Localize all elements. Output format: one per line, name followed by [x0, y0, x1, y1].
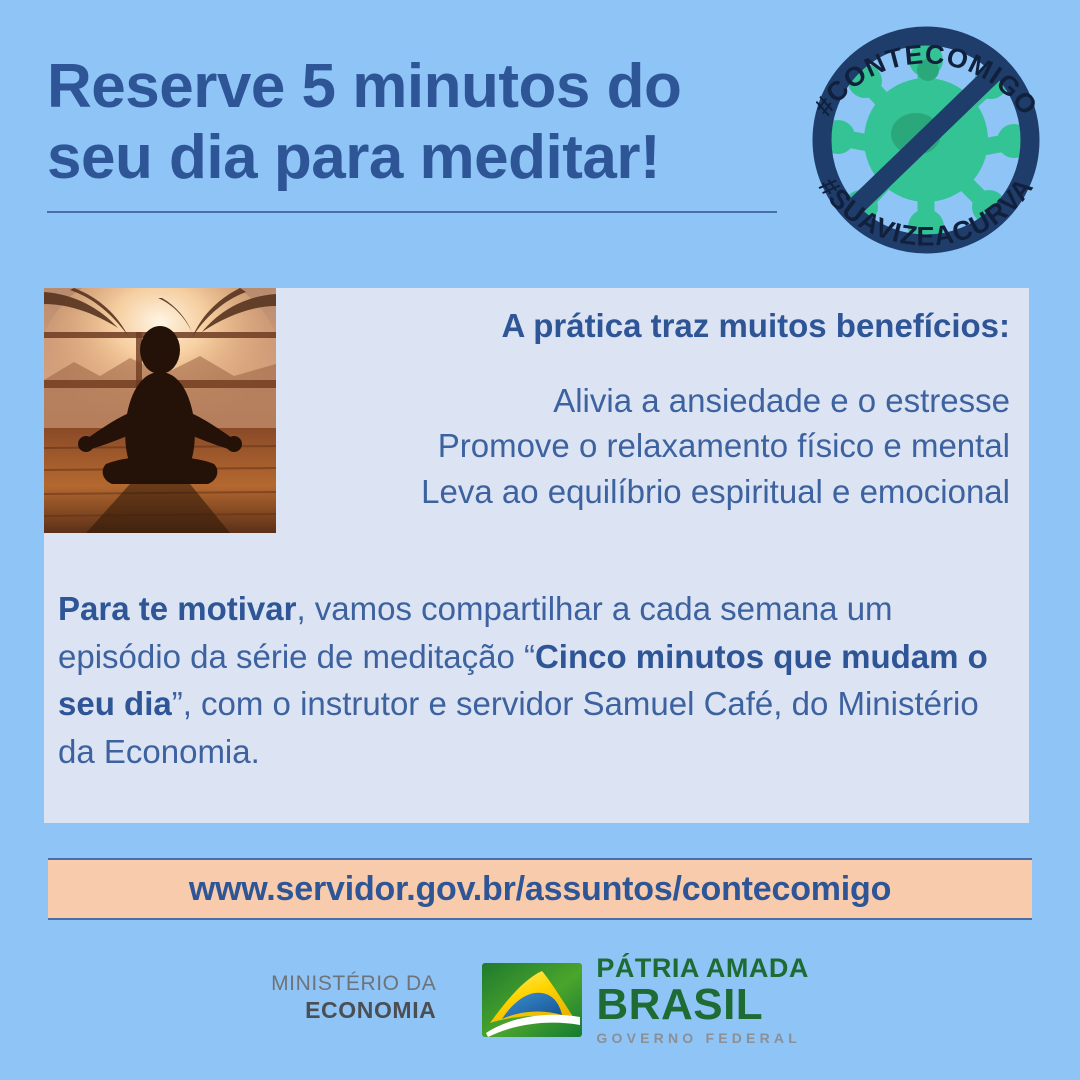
brasil-patria-amada: PÁTRIA AMADA — [596, 955, 808, 982]
paragraph-bold-1: Para te motivar — [58, 590, 296, 627]
title-divider — [47, 211, 777, 213]
paragraph-text-2: ”, com o instrutor e servidor Samuel Caf… — [58, 685, 979, 770]
benefits-heading: A prática traz muitos benefícios: — [294, 306, 1016, 346]
page-title: Reserve 5 minutos do seu dia para medita… — [47, 52, 777, 193]
page-title-line-1: Reserve 5 minutos do — [47, 52, 777, 123]
page-title-line-2: seu dia para meditar! — [47, 123, 777, 194]
government-of-brazil-logo: PÁTRIA AMADA BRASIL GOVERNO FEDERAL — [480, 955, 808, 1045]
content-panel: A prática traz muitos benefícios: Alivia… — [44, 288, 1029, 823]
brasil-name: BRASIL — [596, 983, 808, 1027]
website-url-text[interactable]: www.servidor.gov.br/assuntos/contecomigo — [189, 870, 891, 909]
benefits-block: A prática traz muitos benefícios: Alivia… — [294, 306, 1016, 514]
brasil-governo-federal: GOVERNO FEDERAL — [596, 1031, 808, 1045]
benefit-item: Alivia a ansiedade e o estresse — [294, 378, 1016, 424]
website-url-bar[interactable]: www.servidor.gov.br/assuntos/contecomigo — [48, 858, 1032, 920]
brasil-flag-emblem — [480, 961, 584, 1039]
benefits-list: Alivia a ansiedade e o estresse Promove … — [294, 378, 1016, 515]
ministry-of-economy-logo: MINISTÉRIO DA ECONOMIA — [271, 972, 436, 1027]
footer-logos: MINISTÉRIO DA ECONOMIA — [0, 940, 1080, 1060]
ministry-label-top: MINISTÉRIO DA — [271, 972, 436, 996]
brasil-wordmark: PÁTRIA AMADA BRASIL GOVERNO FEDERAL — [596, 955, 808, 1045]
contecomigo-badge: #CONTECOMIGO #SUAVIZEACURVA — [778, 8, 1074, 270]
meditation-photo — [44, 288, 276, 533]
body-paragraph: Para te motivar, vamos compartilhar a ca… — [58, 585, 1008, 775]
ministry-label-bottom: ECONOMIA — [271, 997, 436, 1024]
benefit-item: Leva ao equilíbrio espiritual e emociona… — [294, 469, 1016, 515]
benefit-item: Promove o relaxamento físico e mental — [294, 423, 1016, 469]
